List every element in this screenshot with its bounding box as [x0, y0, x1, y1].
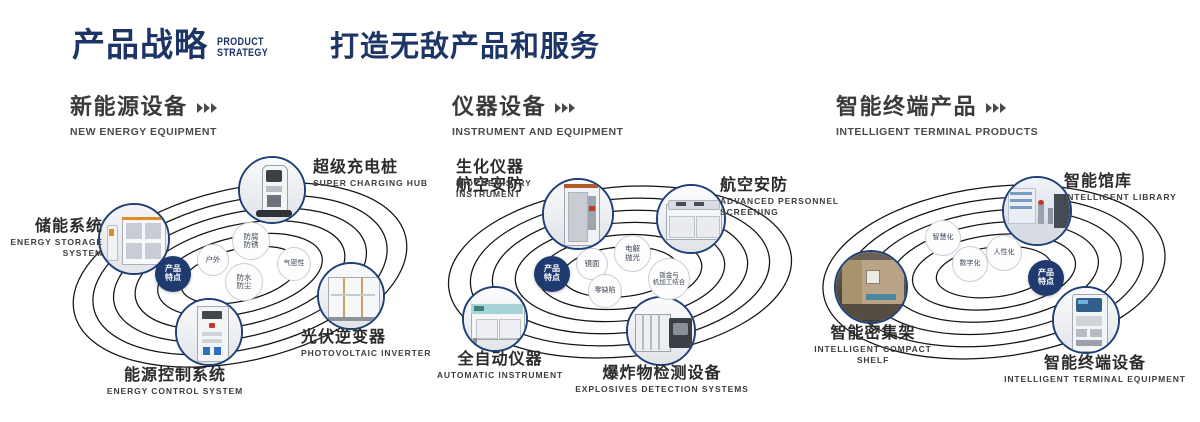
label-cn: 生化仪器	[456, 158, 616, 176]
cluster-new-energy: 储能系统 ENERGY STORAGE SYSTEM 超级充电桩 SUPER C…	[55, 150, 425, 390]
node-energy-control-system[interactable]	[175, 298, 243, 366]
photovoltaic-inverter-thumbnail	[319, 264, 383, 328]
page-header: 产品战略 PRODUCT STRATEGY	[72, 28, 279, 61]
page-title-en: PRODUCT STRATEGY	[217, 37, 268, 59]
intelligent-terminal-equipment-thumbnail	[1054, 288, 1118, 352]
chevron-right-icon	[197, 103, 217, 113]
page-slogan: 打造无敌产品和服务	[330, 30, 600, 63]
node-intelligent-compact-shelf[interactable]	[834, 250, 908, 324]
label-intelligent-library: 智能馆库 INTELLIGENT LIBRARY	[1064, 172, 1200, 203]
label-cn: 能源控制系统	[75, 366, 275, 384]
bubble-smart: 智慧化	[925, 220, 961, 256]
intelligent-compact-shelf-thumbnail	[836, 252, 906, 322]
badge-line2: 特点	[165, 274, 181, 283]
label-cn: 全自动仪器	[410, 350, 590, 368]
section-heading-new-energy: 新能源设备 NEW ENERGY EQUIPMENT	[70, 96, 217, 138]
label-cn: 智能终端设备	[1000, 354, 1190, 372]
section-title-en: INSTRUMENT AND EQUIPMENT	[452, 126, 623, 138]
label-energy-control-system: 能源控制系统 ENERGY CONTROL SYSTEM	[75, 366, 275, 397]
cluster-intelligent-terminal: 智能馆库 INTELLIGENT LIBRARY 智能密集架 INTELLIGE…	[812, 150, 1192, 390]
page-title-en-line2: STRATEGY	[217, 48, 268, 59]
badge-product-features: 产品 特点	[1028, 260, 1064, 296]
bubble-zero-defect: 零缺陷	[588, 274, 622, 308]
bubble-outdoor: 户外	[197, 244, 229, 276]
label-cn: 爆炸物检测设备	[572, 364, 752, 382]
badge-product-features: 产品 特点	[534, 256, 570, 292]
label-en: EXPLOSIVES DETECTION SYSTEMS	[572, 384, 752, 395]
bubble-digital: 数字化	[952, 246, 988, 282]
cluster-instrument: 航空安防 生化仪器 BIOCHEMISTRY INSTRUMENT	[432, 150, 808, 390]
label-intelligent-compact-shelf: 智能密集架 INTELLIGENT COMPACT SHELF	[778, 324, 968, 366]
label-en: INTELLIGENT LIBRARY	[1064, 192, 1200, 203]
bubble-anti-corrosion: 防腐 防锈	[232, 222, 270, 260]
badge-line2: 特点	[1038, 278, 1054, 287]
node-super-charging-hub[interactable]	[238, 156, 306, 224]
bubble-airtightness: 气密性	[277, 247, 311, 281]
bubble-electropolishing: 电解 抛光	[614, 235, 651, 272]
section-heading-instrument: 仪器设备 INSTRUMENT AND EQUIPMENT	[452, 96, 623, 138]
section-heading-intelligent-terminal: 智能终端产品 INTELLIGENT TERMINAL PRODUCTS	[836, 96, 1038, 138]
node-automatic-instrument[interactable]	[462, 286, 528, 352]
label-en: AUTOMATIC INSTRUMENT	[410, 370, 590, 381]
label-cn: 智能馆库	[1064, 172, 1200, 190]
label-en: ENERGY CONTROL SYSTEM	[75, 386, 275, 397]
intelligent-library-thumbnail	[1004, 178, 1070, 244]
label-en: BIOCHEMISTRY INSTRUMENT	[456, 178, 616, 199]
section-title-en: NEW ENERGY EQUIPMENT	[70, 126, 217, 138]
bubble-sheet-metal-machining: 钣金与 机加工结合	[648, 258, 690, 300]
advanced-personnel-screening-thumbnail	[658, 186, 724, 252]
badge-product-features: 产品 特点	[155, 256, 191, 292]
label-cn: 智能密集架	[778, 324, 968, 342]
explosives-detection-systems-thumbnail	[628, 298, 694, 364]
section-title-cn: 新能源设备	[70, 96, 188, 120]
label-biochemistry-instrument: 生化仪器 BIOCHEMISTRY INSTRUMENT	[456, 158, 616, 200]
page-title-cn: 产品战略	[72, 28, 208, 61]
bubble-humanized: 人性化	[986, 235, 1022, 271]
label-intelligent-terminal-equipment: 智能终端设备 INTELLIGENT TERMINAL EQUIPMENT	[1000, 354, 1190, 385]
automatic-instrument-thumbnail	[464, 288, 526, 350]
label-en: ENERGY STORAGE SYSTEM	[0, 237, 103, 258]
node-explosives-detection-systems[interactable]	[626, 296, 696, 366]
node-intelligent-library[interactable]	[1002, 176, 1072, 246]
label-en: INTELLIGENT COMPACT SHELF	[778, 344, 968, 365]
section-title-en: INTELLIGENT TERMINAL PRODUCTS	[836, 126, 1038, 138]
label-en: INTELLIGENT TERMINAL EQUIPMENT	[1000, 374, 1190, 385]
node-photovoltaic-inverter[interactable]	[317, 262, 385, 330]
node-intelligent-terminal-equipment[interactable]	[1052, 286, 1120, 354]
energy-control-system-thumbnail	[177, 300, 241, 364]
chevron-right-icon	[986, 103, 1006, 113]
node-advanced-personnel-screening[interactable]	[656, 184, 726, 254]
label-automatic-instrument: 全自动仪器 AUTOMATIC INSTRUMENT	[410, 350, 590, 381]
product-strategy-infographic: 产品战略 PRODUCT STRATEGY 打造无敌产品和服务 新能源设备 NE…	[0, 0, 1200, 422]
chevron-right-icon	[555, 103, 575, 113]
badge-line2: 特点	[544, 274, 560, 283]
bubble-waterproof-dustproof: 防水 防尘	[225, 263, 263, 301]
label-energy-storage-system: 储能系统 ENERGY STORAGE SYSTEM	[0, 217, 103, 259]
label-explosives-detection-systems: 爆炸物检测设备 EXPLOSIVES DETECTION SYSTEMS	[572, 364, 752, 395]
super-charging-hub-thumbnail	[240, 158, 304, 222]
section-title-cn: 仪器设备	[452, 96, 546, 120]
section-title-cn: 智能终端产品	[836, 96, 977, 120]
label-cn: 储能系统	[0, 217, 103, 235]
